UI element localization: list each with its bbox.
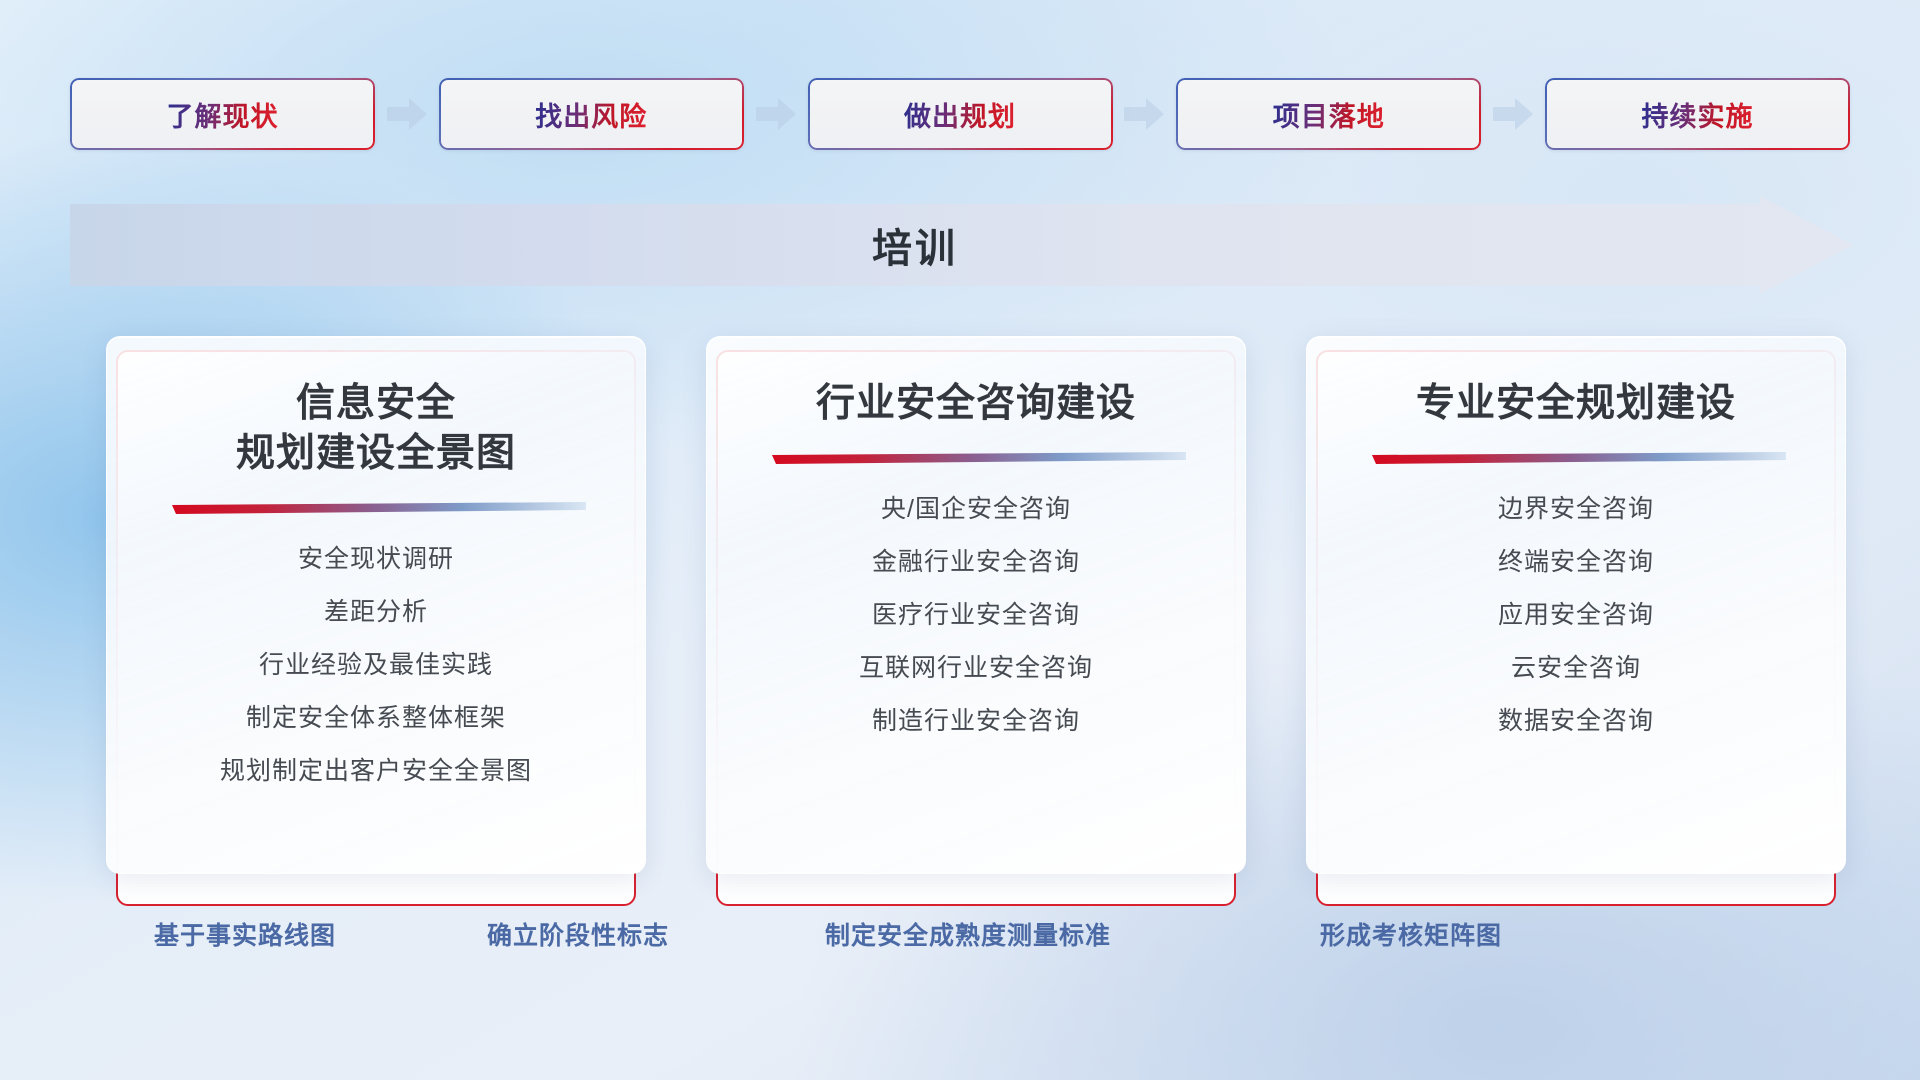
card-professional-security-planning[interactable]: 专业安全规划建设 [1306,336,1846,874]
gradient-divider-icon [166,501,586,517]
step-box-4[interactable]: 项目落地 [1176,78,1481,150]
card-title: 信息安全 规划建设全景图 [236,379,516,479]
step-label: 了解现状 [167,95,279,134]
step-box-5[interactable]: 持续实施 [1545,78,1850,150]
footer-label-3: 制定安全成熟度测量标准 [825,916,1111,952]
step-label: 项目落地 [1273,95,1385,134]
slide-canvas: 了解现状 找出风险 做出规划 项目落地 持续实施 [0,0,1920,1080]
list-item: 央/国企安全咨询 [859,497,1093,522]
list-item: 云安全咨询 [1498,656,1654,681]
list-item: 医疗行业安全咨询 [859,603,1093,628]
list-item: 安全现状调研 [220,547,532,572]
gradient-divider-icon [1366,451,1786,467]
list-item: 数据安全咨询 [1498,709,1654,734]
process-step-row: 了解现状 找出风险 做出规划 项目落地 持续实施 [70,78,1850,150]
arrow-right-icon [1122,94,1166,134]
list-item: 终端安全咨询 [1498,550,1654,575]
card-item-list: 央/国企安全咨询 金融行业安全咨询 医疗行业安全咨询 互联网行业安全咨询 制造行… [859,497,1093,734]
card-slot-1: 信息安全 规划建设全景图 [106,336,646,874]
arrow-right-icon [385,94,429,134]
card-title: 专业安全规划建设 [1416,379,1736,429]
card-item-list: 安全现状调研 差距分析 行业经验及最佳实践 制定安全体系整体框架 规划制定出客户… [220,547,532,784]
banner-title: 培训 [70,196,1760,294]
card-item-list: 边界安全咨询 终端安全咨询 应用安全咨询 云安全咨询 数据安全咨询 [1498,497,1654,734]
gradient-divider-icon [766,451,1186,467]
step-label: 持续实施 [1642,95,1754,134]
footer-label-1: 基于事实路线图 [154,916,336,952]
step-label: 做出规划 [904,95,1016,134]
step-box-2[interactable]: 找出风险 [439,78,744,150]
list-item: 行业经验及最佳实践 [220,653,532,678]
list-item: 规划制定出客户安全全景图 [220,759,532,784]
list-item: 金融行业安全咨询 [859,550,1093,575]
card-slot-2: 行业安全咨询建设 [706,336,1246,874]
list-item: 互联网行业安全咨询 [859,656,1093,681]
card-slot-3: 专业安全规划建设 [1306,336,1846,874]
step-box-1[interactable]: 了解现状 [70,78,375,150]
list-item: 应用安全咨询 [1498,603,1654,628]
card-industry-security-consulting[interactable]: 行业安全咨询建设 [706,336,1246,874]
training-banner: 培训 [70,196,1853,294]
footer-label-row: 基于事实路线图 确立阶段性标志 制定安全成熟度测量标准 形成考核矩阵图 [0,916,1920,956]
card-row: 信息安全 规划建设全景图 [106,336,1846,874]
list-item: 差距分析 [220,600,532,625]
step-label: 找出风险 [535,95,647,134]
arrow-right-icon [754,94,798,134]
list-item: 制造行业安全咨询 [859,709,1093,734]
arrow-right-icon [1491,94,1535,134]
footer-label-2: 确立阶段性标志 [487,916,669,952]
list-item: 边界安全咨询 [1498,497,1654,522]
list-item: 制定安全体系整体框架 [220,706,532,731]
card-title: 行业安全咨询建设 [816,379,1136,429]
footer-label-4: 形成考核矩阵图 [1320,916,1502,952]
step-box-3[interactable]: 做出规划 [808,78,1113,150]
card-info-security-blueprint[interactable]: 信息安全 规划建设全景图 [106,336,646,874]
